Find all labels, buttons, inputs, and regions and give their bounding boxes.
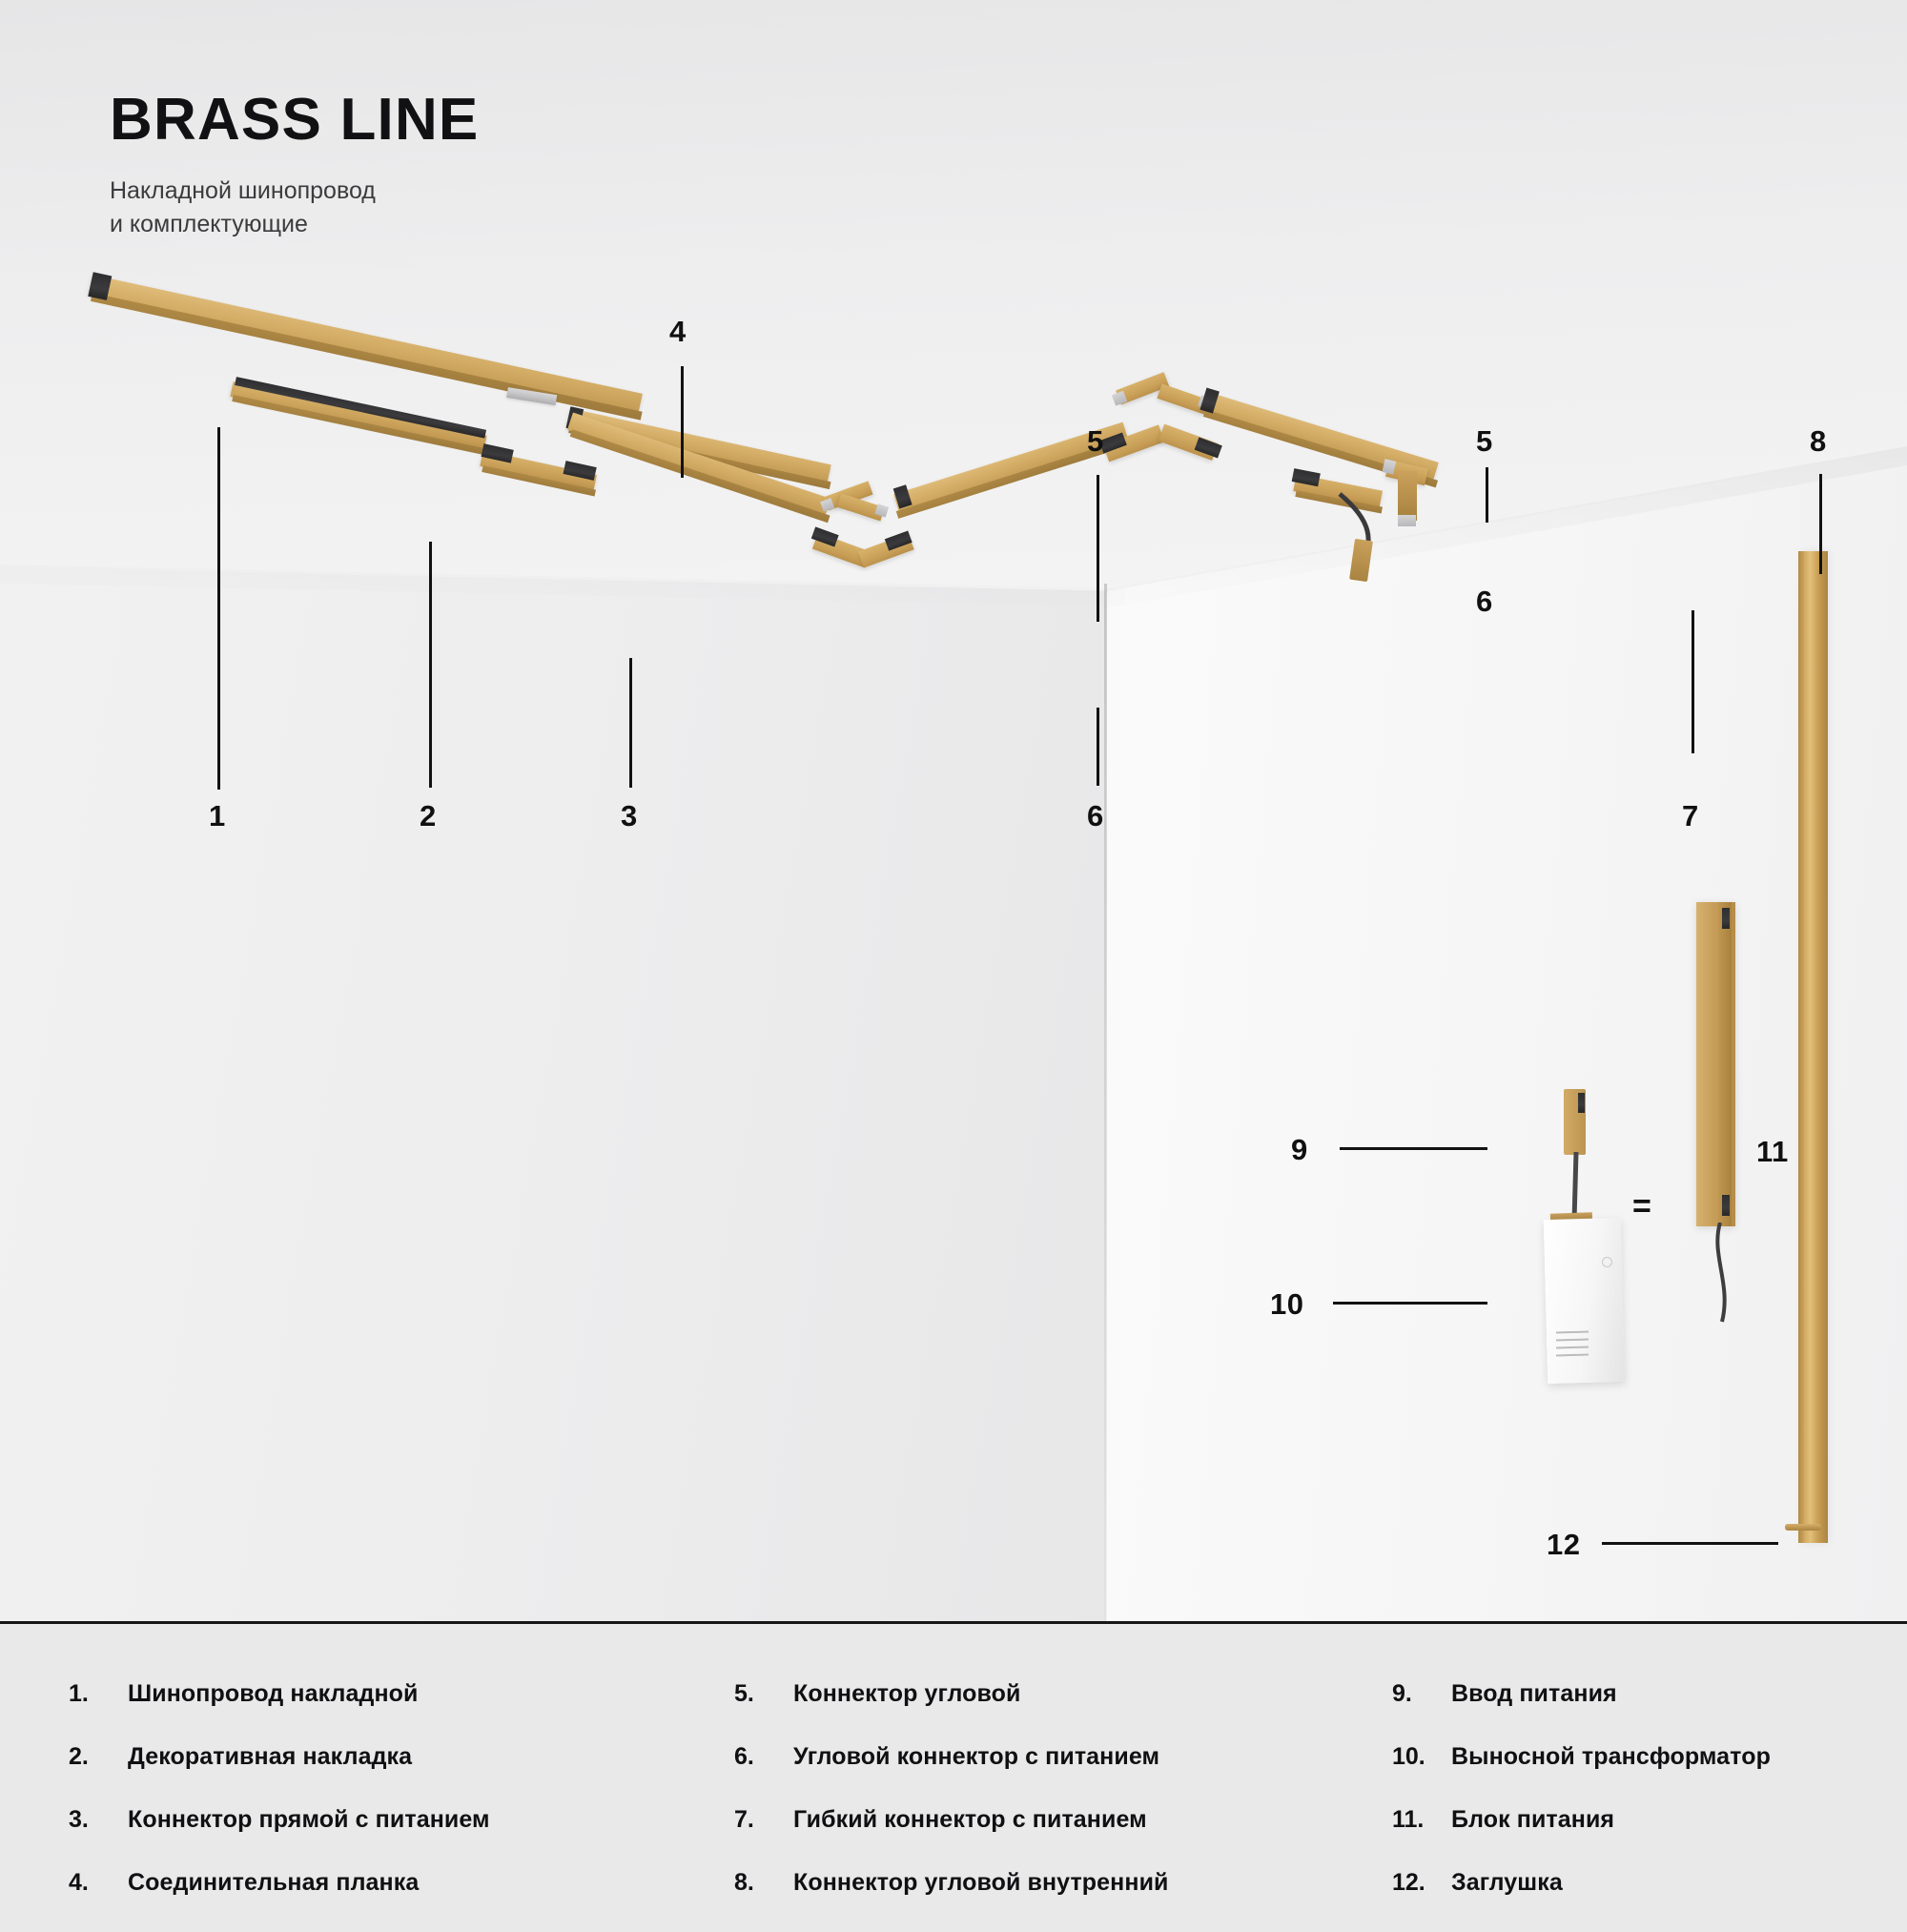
callout-number-12: 12 bbox=[1547, 1530, 1580, 1559]
legend-item: 11. Блок питания bbox=[1392, 1806, 1907, 1834]
legend-item-number: 1. bbox=[69, 1680, 128, 1708]
legend-item-number: 5. bbox=[734, 1680, 793, 1708]
legend-item-label: Коннектор прямой с питанием bbox=[128, 1806, 490, 1834]
leader-line-5-left bbox=[1097, 475, 1099, 622]
page-title: BRASS LINE bbox=[110, 91, 479, 150]
legend-item-label: Декоративная накладка bbox=[128, 1743, 412, 1771]
legend-column-3: 9. Ввод питания 10. Выносной трансформат… bbox=[1354, 1680, 1907, 1932]
callout-number-8: 8 bbox=[1810, 426, 1827, 456]
legend-column-2: 5. Коннектор угловой 6. Угловой коннекто… bbox=[687, 1680, 1354, 1932]
subtitle-line-2: и комплектующие bbox=[110, 208, 479, 241]
callout-number-4: 4 bbox=[669, 317, 687, 346]
leader-line-4 bbox=[681, 366, 684, 478]
leader-line-9 bbox=[1340, 1147, 1487, 1150]
scene-stage: 1 2 3 4 5 6 5 6 7 8 9 10 11 bbox=[0, 0, 1907, 1907]
leader-line-5-right bbox=[1486, 467, 1488, 523]
legend-item-label: Коннектор угловой bbox=[793, 1680, 1020, 1708]
page-subtitle: Накладной шинопровод и комплектующие bbox=[110, 175, 479, 240]
legend-item-label: Соединительная планка bbox=[128, 1869, 419, 1897]
leader-line-3 bbox=[629, 658, 632, 788]
legend-item: 4. Соединительная планка bbox=[69, 1869, 687, 1897]
legend-item-number: 9. bbox=[1392, 1680, 1451, 1708]
leader-line-6-left bbox=[1097, 708, 1099, 786]
callout-number-5-left: 5 bbox=[1087, 426, 1104, 456]
leader-line-10 bbox=[1333, 1302, 1487, 1305]
room-render bbox=[0, 0, 1907, 1621]
equals-sign: = bbox=[1632, 1190, 1651, 1223]
legend-item: 7. Гибкий коннектор с питанием bbox=[734, 1806, 1354, 1834]
legend-item-number: 8. bbox=[734, 1869, 793, 1897]
legend-item-label: Шинопровод накладной bbox=[128, 1680, 419, 1708]
legend-item-number: 3. bbox=[69, 1806, 128, 1834]
legend-item-number: 11. bbox=[1392, 1806, 1451, 1834]
legend-item-label: Выносной трансформатор bbox=[1451, 1743, 1771, 1771]
legend-item-number: 4. bbox=[69, 1869, 128, 1897]
callout-number-6-left: 6 bbox=[1087, 801, 1104, 831]
callout-number-2: 2 bbox=[420, 801, 437, 831]
callout-number-3: 3 bbox=[621, 801, 638, 831]
room-corner-line bbox=[1104, 584, 1107, 1621]
legend-item-number: 12. bbox=[1392, 1869, 1451, 1897]
callout-number-11: 11 bbox=[1756, 1137, 1789, 1166]
legend-item-number: 7. bbox=[734, 1806, 793, 1834]
legend-item: 8. Коннектор угловой внутренний bbox=[734, 1869, 1354, 1897]
leader-line-7 bbox=[1692, 610, 1694, 753]
leader-line-1 bbox=[217, 427, 220, 790]
callout-number-10: 10 bbox=[1270, 1289, 1303, 1319]
subtitle-line-1: Накладной шинопровод bbox=[110, 175, 479, 208]
callout-number-1: 1 bbox=[209, 801, 226, 831]
legend-block: 1. Шинопровод накладной 2. Декоративная … bbox=[0, 1621, 1907, 1907]
legend-item-number: 6. bbox=[734, 1743, 793, 1771]
legend-item-label: Гибкий коннектор с питанием bbox=[793, 1806, 1147, 1834]
flexible-cable-icon bbox=[1330, 488, 1445, 622]
callout-number-5-right: 5 bbox=[1476, 426, 1493, 456]
power-block-cable-icon bbox=[1707, 1223, 1745, 1337]
legend-item-label: Угловой коннектор с питанием bbox=[793, 1743, 1159, 1771]
legend-item-label: Коннектор угловой внутренний bbox=[793, 1869, 1169, 1897]
legend-item: 1. Шинопровод накладной bbox=[69, 1680, 687, 1708]
leader-line-2 bbox=[429, 542, 432, 788]
legend-item: 12. Заглушка bbox=[1392, 1869, 1907, 1897]
legend-item: 2. Декоративная накладка bbox=[69, 1743, 687, 1771]
leader-line-8 bbox=[1819, 474, 1822, 574]
callout-number-7: 7 bbox=[1682, 801, 1699, 831]
legend-item-label: Блок питания bbox=[1451, 1806, 1614, 1834]
callout-number-6-right: 6 bbox=[1476, 586, 1493, 616]
legend-item-label: Заглушка bbox=[1451, 1869, 1563, 1897]
legend-item: 9. Ввод питания bbox=[1392, 1680, 1907, 1708]
legend-item-label: Ввод питания bbox=[1451, 1680, 1617, 1708]
legend-item-number: 2. bbox=[69, 1743, 128, 1771]
legend-item: 6. Угловой коннектор с питанием bbox=[734, 1743, 1354, 1771]
callout-number-9: 9 bbox=[1291, 1135, 1308, 1164]
leader-line-12 bbox=[1602, 1542, 1778, 1545]
legend-item: 3. Коннектор прямой с питанием bbox=[69, 1806, 687, 1834]
legend-item: 10. Выносной трансформатор bbox=[1392, 1743, 1907, 1771]
header-block: BRASS LINE Накладной шинопровод и компле… bbox=[110, 91, 479, 240]
legend-item: 5. Коннектор угловой bbox=[734, 1680, 1354, 1708]
legend-column-1: 1. Шинопровод накладной 2. Декоративная … bbox=[0, 1680, 687, 1932]
legend-item-number: 10. bbox=[1392, 1743, 1451, 1771]
